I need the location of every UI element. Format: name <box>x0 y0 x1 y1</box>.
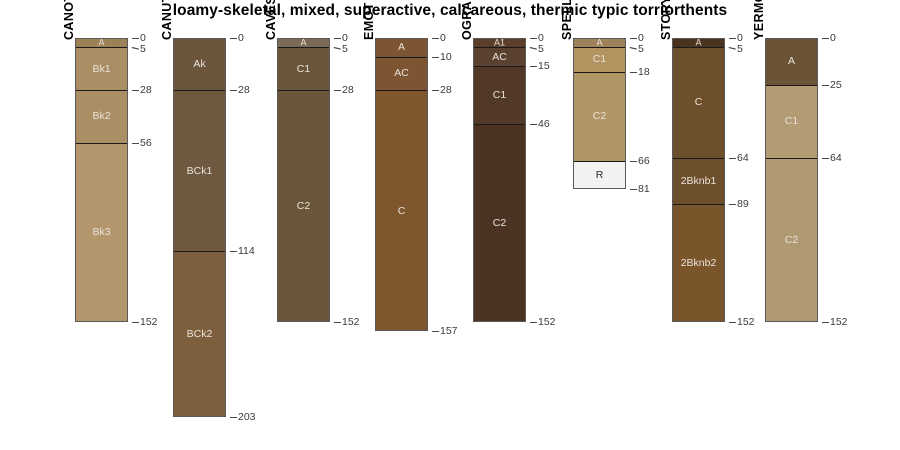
profile-column <box>375 38 428 331</box>
depth-value: 0 <box>342 33 348 44</box>
depth-value: 0 <box>830 33 836 44</box>
depth-value: 56 <box>140 138 152 149</box>
profile-column <box>173 38 226 417</box>
profile-id-label: CAVESPRING <box>264 0 278 40</box>
depth-tick <box>432 90 439 91</box>
profile-id-label: CANUTIO <box>160 0 174 40</box>
depth-tick <box>132 143 139 144</box>
depth-value: 0 <box>140 33 146 44</box>
depth-value: 81 <box>638 184 650 195</box>
depth-tick <box>630 189 637 190</box>
depth-value: 152 <box>538 317 556 328</box>
depth-tick <box>132 90 139 91</box>
horizon-label: A <box>375 42 428 53</box>
depth-tick <box>132 322 139 323</box>
depth-tick <box>822 85 829 86</box>
horizon-label: AC <box>473 51 526 62</box>
profile-id-label: CANOTO <box>62 0 76 40</box>
depth-tick <box>334 322 341 323</box>
depth-value: 46 <box>538 119 550 130</box>
horizon-label: R <box>573 170 626 181</box>
depth-value: 152 <box>737 317 755 328</box>
depth-value: 64 <box>830 153 842 164</box>
depth-value: 0 <box>737 33 743 44</box>
depth-value: 5 <box>538 44 544 55</box>
depth-tick <box>432 331 439 332</box>
depth-value: 152 <box>140 317 158 328</box>
horizon-label: Ak <box>173 59 226 70</box>
horizon-label: Bk1 <box>75 64 128 75</box>
depth-tick <box>729 38 736 39</box>
depth-value: 152 <box>342 317 360 328</box>
depth-value: 5 <box>342 44 348 55</box>
depth-value: 28 <box>342 85 354 96</box>
depth-value: 0 <box>538 33 544 44</box>
depth-tick <box>822 322 829 323</box>
depth-tick <box>729 322 736 323</box>
horizon-label: Bk2 <box>75 111 128 122</box>
depth-value: 10 <box>440 52 452 63</box>
depth-value: 25 <box>830 80 842 91</box>
depth-tick <box>530 66 537 67</box>
depth-tick <box>334 47 341 50</box>
soil-profile-chart: loamy-skeletal, mixed, superactive, calc… <box>0 0 900 450</box>
horizon-label: C1 <box>277 64 330 75</box>
profile-column <box>75 38 128 322</box>
horizon-label: A <box>765 56 818 67</box>
depth-tick <box>432 57 439 58</box>
profile-id-label: SPELLACY <box>560 0 574 40</box>
profile-id-label: EMOT <box>362 2 376 40</box>
horizon-label: A <box>277 38 330 47</box>
horizon-label: A <box>75 38 128 47</box>
depth-value: 15 <box>538 61 550 72</box>
depth-tick <box>530 124 537 125</box>
horizon-label: A <box>573 38 626 47</box>
depth-value: 28 <box>238 85 250 96</box>
horizon-label: C1 <box>765 116 818 127</box>
depth-tick <box>230 90 237 91</box>
depth-value: 5 <box>140 44 146 55</box>
depth-tick <box>729 204 736 205</box>
horizon-label: BCk1 <box>173 165 226 176</box>
profile-column <box>765 38 818 322</box>
horizon-label: C2 <box>473 218 526 229</box>
depth-value: 89 <box>737 199 749 210</box>
depth-value: 66 <box>638 156 650 167</box>
depth-value: 64 <box>737 153 749 164</box>
depth-value: 203 <box>238 412 256 423</box>
horizon-label: C2 <box>573 111 626 122</box>
horizon-label: 2Bknb2 <box>672 258 725 269</box>
depth-tick <box>729 47 736 50</box>
horizon-label: BCk2 <box>173 329 226 340</box>
depth-value: 0 <box>638 33 644 44</box>
depth-tick <box>530 47 537 50</box>
depth-value: 28 <box>440 85 452 96</box>
depth-tick <box>729 158 736 159</box>
depth-tick <box>630 72 637 73</box>
depth-value: 157 <box>440 326 458 337</box>
depth-tick <box>530 38 537 39</box>
horizon-label: C <box>375 206 428 217</box>
depth-value: 18 <box>638 67 650 78</box>
profile-column <box>277 38 330 322</box>
horizon-label: 2Bknb1 <box>672 176 725 187</box>
horizon-label: C2 <box>765 234 818 245</box>
horizon-label: A1 <box>473 38 526 47</box>
depth-tick <box>630 47 637 50</box>
horizon-label: C1 <box>473 90 526 101</box>
depth-tick <box>334 38 341 39</box>
horizon-label: C <box>672 97 725 108</box>
depth-value: 152 <box>830 317 848 328</box>
depth-tick <box>432 38 439 39</box>
profile-id-label: YERMO <box>752 0 766 40</box>
depth-value: 5 <box>737 44 743 55</box>
depth-tick <box>132 47 139 50</box>
profile-id-label: OGRAL <box>460 0 474 40</box>
horizon-label: AC <box>375 68 428 79</box>
depth-tick <box>230 38 237 39</box>
horizon-label: C2 <box>277 201 330 212</box>
depth-value: 0 <box>238 33 244 44</box>
depth-tick <box>822 38 829 39</box>
depth-tick <box>630 38 637 39</box>
depth-tick <box>230 417 237 418</box>
depth-tick <box>630 161 637 162</box>
horizon-label: A <box>672 38 725 47</box>
depth-value: 114 <box>238 246 255 257</box>
horizon-label: C1 <box>573 54 626 65</box>
depth-value: 5 <box>638 44 644 55</box>
depth-tick <box>132 38 139 39</box>
depth-value: 28 <box>140 85 152 96</box>
profile-id-label: STORYBOOK <box>659 0 673 40</box>
depth-tick <box>230 251 237 252</box>
horizon-label: Bk3 <box>75 227 128 238</box>
depth-tick <box>822 158 829 159</box>
depth-value: 0 <box>440 33 446 44</box>
depth-tick <box>530 322 537 323</box>
profile-column <box>473 38 526 322</box>
depth-tick <box>334 90 341 91</box>
